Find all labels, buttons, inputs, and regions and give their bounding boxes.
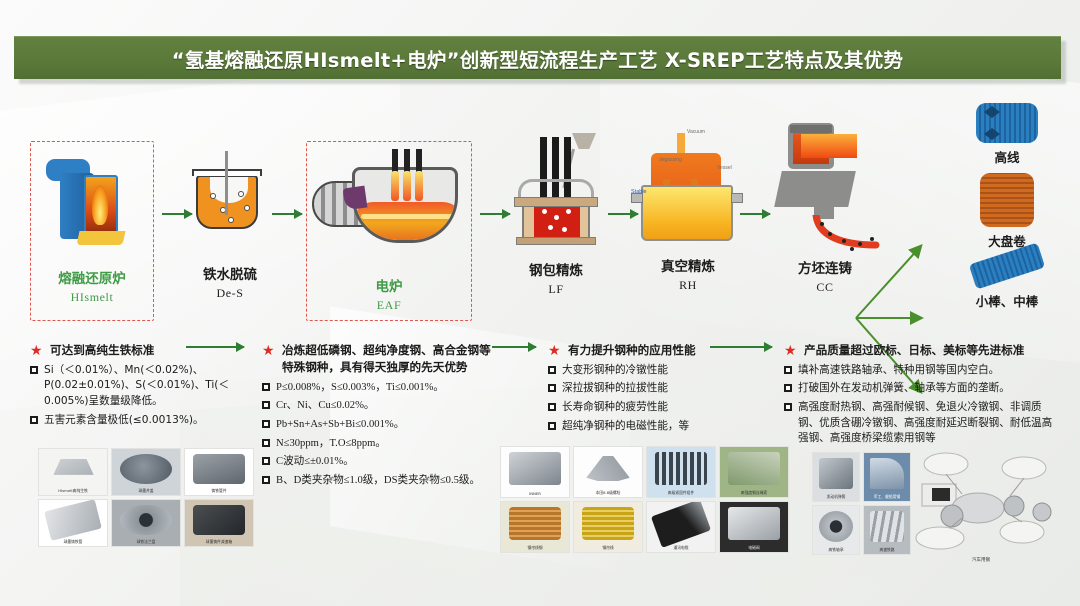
column-title: 有力提升钢种的应用性能	[568, 342, 696, 359]
automotive-chassis-diagram[interactable]: 汽车用钢	[906, 446, 1056, 554]
column-performance: ★ 有力提升钢种的应用性能 大变形钢种的冷镦性能 深拉拔钢种的拉拔性能 长寿命钢…	[548, 342, 738, 437]
photo-thumb	[655, 452, 707, 485]
square-bullet-icon	[262, 383, 270, 391]
list-item: C波动≤±0.01%。	[262, 454, 492, 470]
photo-thumb	[728, 507, 780, 540]
list-item[interactable]: 军工、舰船用钢	[863, 452, 911, 502]
list-item[interactable]: 球墨铸件减速箱	[184, 499, 254, 547]
list-item: 超纯净钢种的电磁性能，等	[548, 419, 738, 435]
list-item: P≤0.008%，S≤0.003%，Ti≤0.001%。	[262, 380, 492, 396]
product-label: 大盘卷	[952, 231, 1062, 250]
square-bullet-icon	[548, 403, 556, 411]
photo-caption: INNER	[504, 491, 565, 496]
bullet-text: Cr、Ni、Cu≤0.02%。	[276, 398, 375, 414]
product-label: 高线	[952, 147, 1062, 166]
stage-label-cn: 钢包精炼	[508, 259, 604, 279]
photo-caption: 军工、舰船用钢	[866, 494, 907, 499]
list-item: 深拉拔钢种的拉拔性能	[548, 381, 738, 397]
photo-caption: 球墨井盖	[115, 488, 176, 493]
list-item: Si（＜0.01%）、Mn(＜0.02%)、P(0.02±0.01%)、S(＜0…	[30, 363, 240, 410]
product-small-medium-bar[interactable]: 小棒、中棒	[944, 253, 1070, 310]
photo-caption: 钢帘线	[577, 545, 638, 550]
star-icon: ★	[784, 343, 798, 357]
photo-thumb	[651, 501, 711, 548]
header-banner: “氢基熔融还原HIsmelt+电炉”创新型短流程生产工艺 X-SREP工艺特点及…	[14, 36, 1066, 84]
photo-thumb	[819, 458, 854, 490]
list-item[interactable]: 本田8.8级螺栓	[573, 446, 643, 498]
square-bullet-icon	[30, 366, 38, 374]
column-quality: ★ 产品质量超过欧标、日标、美标等先进标准 填补高速铁路轴承、特种用钢等国内空白…	[784, 342, 1060, 450]
list-item: B、D类夹杂物≤1.0级，DS类夹杂物≤0.5级。	[262, 473, 492, 489]
hismelt-furnace-icon	[44, 153, 140, 245]
photo-thumb	[819, 511, 854, 543]
list-item[interactable]: 电磁阀	[719, 501, 789, 553]
photo-thumb	[44, 499, 102, 541]
bullet-text: 深拉拔钢种的拉拔性能	[562, 381, 668, 397]
photo-thumb	[870, 458, 905, 490]
square-bullet-icon	[262, 401, 270, 409]
list-item: 大变形钢种的冷镦性能	[548, 363, 738, 379]
flow-arrow-2	[272, 213, 302, 215]
photo-caption: 发动机弹簧	[815, 494, 856, 499]
flow-arrow-3	[480, 213, 510, 215]
star-icon: ★	[30, 343, 44, 357]
list-item[interactable]: HIsmelt高纯生铁	[38, 448, 108, 496]
photo-caption: 高强度钢丝绳索	[723, 490, 784, 495]
page-title: “氢基熔融还原HIsmelt+电炉”创新型短流程生产工艺 X-SREP工艺特点及…	[172, 44, 904, 73]
bullet-text: 超纯净钢种的电磁性能，等	[562, 419, 689, 435]
list-item: N≤30ppm，T.O≤8ppm。	[262, 436, 492, 452]
column-title: 可达到高纯生铁标准	[50, 342, 154, 359]
photo-caption: 电磁阀	[723, 545, 784, 550]
bullet-text: 填补高速铁路轴承、特种用钢等国内空白。	[798, 363, 999, 379]
gallery-castings: HIsmelt高纯生铁 球墨井盖 铸铁管件 球墨铸铁管 球铁法兰盘 球墨铸件减速…	[38, 448, 254, 547]
square-bullet-icon	[262, 476, 270, 484]
stage-label-cn: 真空精炼	[632, 255, 744, 275]
photo-caption: 球墨铸件减速箱	[188, 539, 249, 544]
rh-vacuum-vessel-icon: Vacuum degassing Vessel Stable	[633, 127, 743, 245]
stage-label-en: EAF	[312, 298, 466, 313]
list-item[interactable]: 铸铁管件	[184, 448, 254, 496]
list-item: Pb+Sn+As+Sb+Bi≤0.001%。	[262, 417, 492, 433]
photo-caption: 球铁法兰盘	[115, 539, 176, 544]
photo-caption: HIsmelt高纯生铁	[42, 488, 103, 493]
column-arrow-1	[186, 346, 244, 348]
photo-caption: 高级紧固件组件	[650, 490, 711, 495]
rh-degassing-label: degassing	[659, 157, 682, 163]
list-item[interactable]: 高速铁路	[863, 505, 911, 555]
stage-label-en: HIsmelt	[44, 290, 140, 305]
process-flow-diagram: 熔融还原炉 HIsmelt 铁水脱硫 De-S	[0, 95, 1080, 335]
bullet-list: Si（＜0.01%）、Mn(＜0.02%)、P(0.02±0.01%)、S(＜0…	[30, 363, 240, 429]
stage-rh-degasser[interactable]: Vacuum degassing Vessel Stable 真空精炼 RH	[632, 127, 744, 293]
list-item: 高强度耐热钢、高强耐候钢、免退火冷镦钢、非调质钢、优质含硼冷镦钢、高强度耐延迟断…	[784, 400, 1060, 447]
list-item: 五害元素含量极低(≤0.0013%)。	[30, 413, 240, 429]
bullet-text: 打破国外在发动机弹簧、轴承等方面的垄断。	[798, 381, 1010, 397]
photo-thumb	[120, 454, 172, 484]
column-title: 产品质量超过欧标、日标、美标等先进标准	[804, 342, 1024, 359]
square-bullet-icon	[30, 416, 38, 424]
flow-arrow-1	[162, 213, 192, 215]
photo-caption: 高速铁路	[866, 547, 907, 552]
photo-caption: 球墨铸铁管	[42, 539, 103, 544]
star-icon: ★	[548, 343, 562, 357]
stage-label-en: De-S	[192, 286, 268, 301]
list-item[interactable]: 球墨铸铁管	[38, 499, 108, 547]
bullet-text: Si（＜0.01%）、Mn(＜0.02%)、P(0.02±0.01%)、S(＜0…	[44, 363, 240, 410]
photo-caption: 通讯电缆	[650, 545, 711, 550]
product-label: 小棒、中棒	[944, 291, 1070, 310]
list-item[interactable]: 通讯电缆	[646, 501, 716, 553]
diagram-caption: 汽车用钢	[906, 557, 1056, 563]
photo-thumb	[120, 505, 172, 535]
bullet-list: 填补高速铁路轴承、特种用钢等国内空白。 打破国外在发动机弹簧、轴承等方面的垄断。…	[784, 363, 1060, 447]
rh-vacuum-label: Vacuum	[687, 129, 705, 135]
bullet-text: N≤30ppm，T.O≤8ppm。	[276, 436, 386, 452]
bullet-text: C波动≤±0.01%。	[276, 454, 354, 470]
stage-ladle-furnace[interactable]: 钢包精炼 LF	[508, 137, 604, 297]
stage-label-cn: 电炉	[312, 275, 466, 295]
square-bullet-icon	[262, 439, 270, 447]
gallery-steel-products: INNER 本田8.8级螺栓 高级紧固件组件 高强度钢丝绳索 钢帘线钢 钢帘线 …	[500, 446, 789, 553]
list-item: 长寿命钢种的疲劳性能	[548, 400, 738, 416]
stage-label-cn: 铁水脱硫	[192, 263, 268, 283]
bullet-text: P≤0.008%，S≤0.003%，Ti≤0.001%。	[276, 380, 444, 396]
square-bullet-icon	[262, 420, 270, 428]
column-arrow-3	[710, 346, 772, 348]
bullet-text: 高强度耐热钢、高强耐候钢、免退火冷镦钢、非调质钢、优质含硼冷镦钢、高强度耐延迟断…	[798, 400, 1060, 447]
stage-desulfurization[interactable]: 铁水脱硫 De-S	[192, 157, 268, 301]
photo-thumb	[582, 507, 634, 540]
photo-thumb	[193, 505, 245, 535]
list-item: 打破国外在发动机弹簧、轴承等方面的垄断。	[784, 381, 1060, 397]
list-item[interactable]: 球墨井盖	[111, 448, 181, 496]
list-item[interactable]: 高铁轴承	[812, 505, 860, 555]
rh-stable-label: Stable	[631, 189, 647, 195]
banner-bar: “氢基熔融还原HIsmelt+电炉”创新型短流程生产工艺 X-SREP工艺特点及…	[14, 36, 1061, 79]
bullet-text: B、D类夹杂物≤1.0级，DS类夹杂物≤0.5级。	[276, 473, 480, 489]
product-high-speed-wire[interactable]: 高线	[952, 103, 1062, 166]
stage-label-en: RH	[632, 278, 744, 293]
square-bullet-icon	[548, 422, 556, 430]
photo-caption: 高铁轴承	[815, 547, 856, 552]
square-bullet-icon	[784, 403, 792, 411]
photo-thumb	[728, 452, 780, 485]
electric-arc-furnace-icon	[312, 153, 466, 253]
column-title: 冶炼超低磷钢、超纯净度钢、高合金钢等特殊钢种，具有得天独厚的先天优势	[282, 342, 492, 376]
photo-thumb	[582, 452, 634, 485]
product-large-coil[interactable]: 大盘卷	[952, 173, 1062, 250]
bullet-text: Pb+Sn+As+Sb+Bi≤0.001%。	[276, 417, 404, 433]
hot-metal-ladle-icon	[192, 157, 268, 237]
gallery-applications: 发动机弹簧 军工、舰船用钢 高铁轴承 高速铁路	[812, 452, 911, 555]
wire-rod-coil-icon	[976, 103, 1038, 143]
list-item[interactable]: 高级紧固件组件	[646, 446, 716, 498]
square-bullet-icon	[548, 384, 556, 392]
square-bullet-icon	[262, 457, 270, 465]
stage-label-en: LF	[508, 282, 604, 297]
list-item[interactable]: 钢帘线钢	[500, 501, 570, 553]
photo-caption: 本田8.8级螺栓	[577, 490, 638, 495]
list-item[interactable]: INNER	[500, 446, 570, 498]
stage-eaf[interactable]: 电炉 EAF	[312, 153, 466, 313]
photo-thumb	[47, 454, 99, 484]
bullet-list: 大变形钢种的冷镦性能 深拉拔钢种的拉拔性能 长寿命钢种的疲劳性能 超纯净钢种的电…	[548, 363, 738, 435]
bullet-text: 五害元素含量极低(≤0.0013%)。	[44, 413, 204, 429]
bullet-list: P≤0.008%，S≤0.003%，Ti≤0.001%。 Cr、Ni、Cu≤0.…	[262, 380, 492, 489]
benefit-columns: ★ 可达到高纯生铁标准 Si（＜0.01%）、Mn(＜0.02%)、P(0.02…	[0, 338, 1080, 606]
photo-thumb	[509, 507, 561, 540]
list-item: 填补高速铁路轴承、特种用钢等国内空白。	[784, 363, 1060, 379]
list-item: Cr、Ni、Cu≤0.02%。	[262, 398, 492, 414]
list-item[interactable]: 球铁法兰盘	[111, 499, 181, 547]
star-icon: ★	[262, 343, 276, 357]
square-bullet-icon	[784, 366, 792, 374]
photo-thumb	[193, 454, 245, 484]
square-bullet-icon	[784, 384, 792, 392]
column-arrow-2	[492, 346, 536, 348]
column-smelting: ★ 冶炼超低磷钢、超纯净度钢、高合金钢等特殊钢种，具有得天独厚的先天优势 P≤0…	[262, 342, 492, 492]
rh-vessel-label: Vessel	[717, 165, 732, 171]
square-bullet-icon	[548, 366, 556, 374]
large-coil-icon	[980, 173, 1034, 227]
column-purity: ★ 可达到高纯生铁标准 Si（＜0.01%）、Mn(＜0.02%)、P(0.02…	[30, 342, 240, 431]
stage-label-cn: 熔融还原炉	[44, 267, 140, 287]
photo-caption: 铸铁管件	[188, 488, 249, 493]
bullet-text: 长寿命钢种的疲劳性能	[562, 400, 668, 416]
ladle-furnace-icon	[510, 137, 602, 249]
list-item[interactable]: 发动机弹簧	[812, 452, 860, 502]
list-item[interactable]: 高强度钢丝绳索	[719, 446, 789, 498]
bullet-text: 大变形钢种的冷镦性能	[562, 363, 668, 379]
list-item[interactable]: 钢帘线	[573, 501, 643, 553]
stage-hismelt[interactable]: 熔融还原炉 HIsmelt	[44, 153, 140, 305]
photo-thumb	[870, 511, 905, 543]
photo-caption: 钢帘线钢	[504, 545, 565, 550]
photo-thumb	[509, 452, 561, 485]
